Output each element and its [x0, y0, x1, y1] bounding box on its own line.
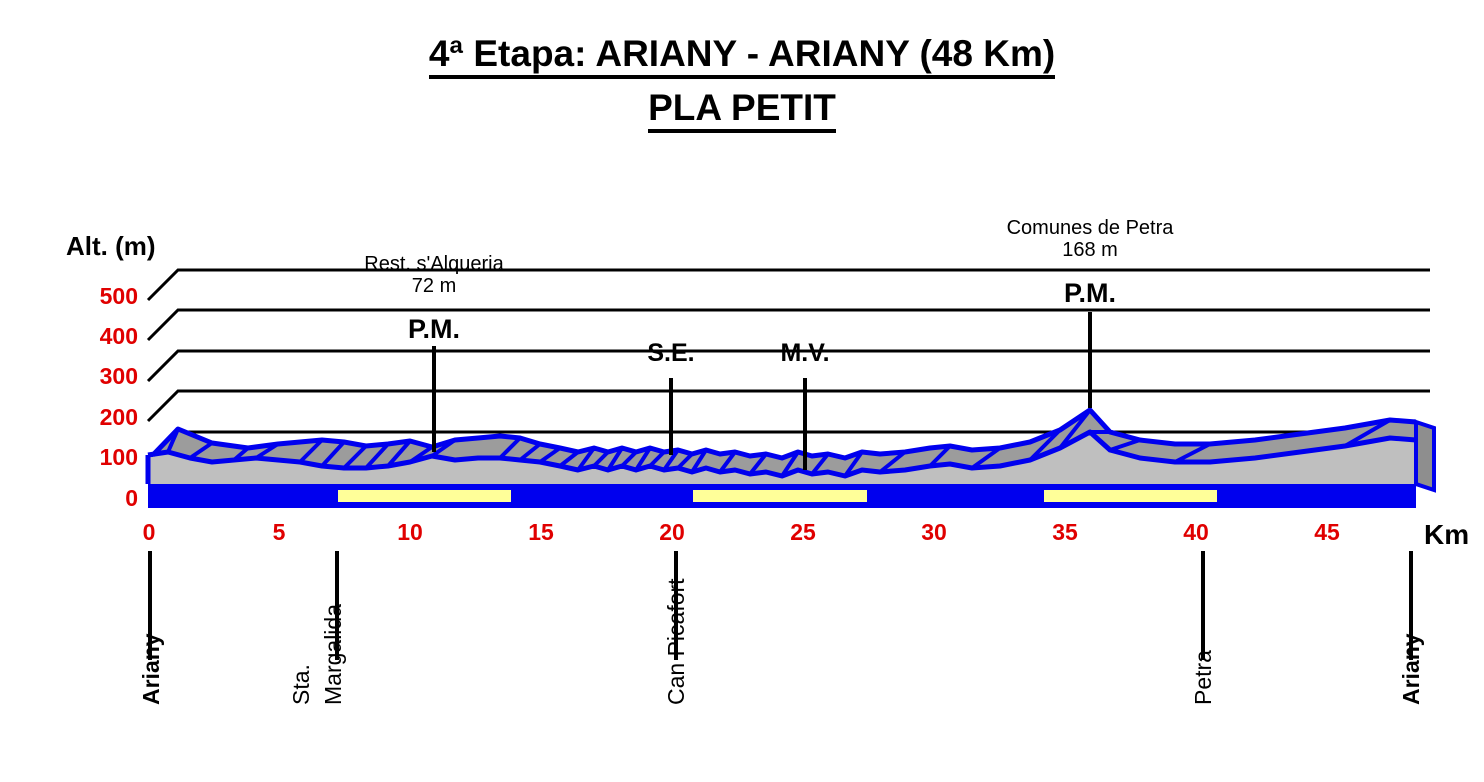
place-label-can-picafort: Can Picafort — [663, 578, 690, 705]
annotation-rest-alqueria: Rest. s'Alqueria 72 m — [344, 253, 524, 298]
annotation-marker-label: P.M. — [1030, 278, 1150, 308]
annotation-marker-pm-petra: P.M. — [1030, 277, 1150, 308]
road-segment-yellow-2 — [692, 489, 868, 503]
annotation-marker-label: P.M. — [374, 314, 494, 344]
annotation-marker-label: S.E. — [621, 339, 721, 367]
annotation-marker-pm-alqueria: P.M. — [374, 313, 494, 344]
annotation-marker-mv: M.V. — [755, 338, 855, 367]
elevation-profile-chart — [0, 0, 1484, 782]
gridline-500 — [148, 270, 1430, 300]
annotation-name: Comunes de Petra — [980, 217, 1200, 239]
place-label-ariany-start: Ariany — [138, 633, 165, 705]
gridline-400 — [148, 310, 1430, 340]
annotation-comunes-de-petra: Comunes de Petra 168 m — [980, 217, 1200, 262]
place-label-petra: Petra — [1190, 650, 1217, 705]
terrain-end-cap — [1416, 422, 1434, 490]
annotation-elevation: 72 m — [344, 275, 524, 297]
gridline-200 — [148, 391, 1430, 421]
annotation-elevation: 168 m — [980, 239, 1200, 261]
annotation-name: Rest. s'Alqueria — [344, 253, 524, 275]
road-segment-yellow-1 — [337, 489, 512, 503]
annotation-marker-label: M.V. — [755, 339, 855, 367]
place-label-sta: Sta. — [288, 664, 315, 705]
annotation-marker-se: S.E. — [621, 338, 721, 367]
place-label-ariany-end: Ariany — [1398, 633, 1425, 705]
road-segment-yellow-3 — [1043, 489, 1218, 503]
road-surface-bar — [148, 484, 1416, 508]
place-label-margalida: Margalida — [320, 604, 347, 705]
